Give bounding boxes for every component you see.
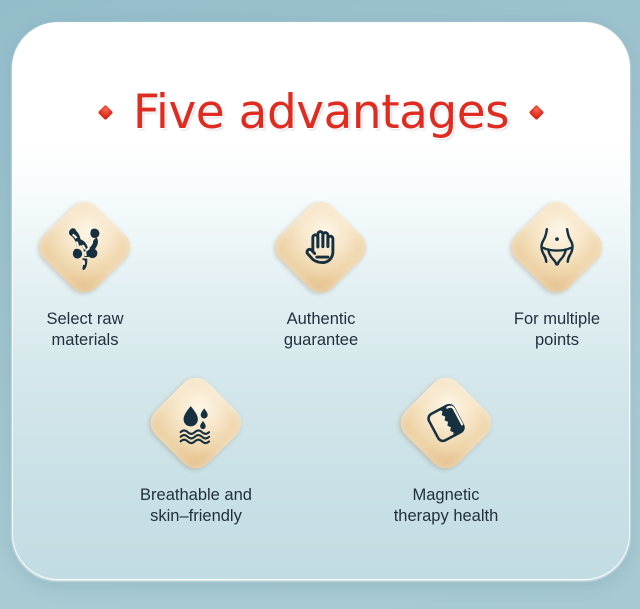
diamond-bullet-right-icon [529,105,545,121]
feature-grid: Select raw materials [13,195,629,527]
promo-graphic: Five advantages [0,0,640,609]
feature-magnetic-therapy-health: Magnetic therapy health [371,371,521,527]
feature-label: Authentic guarantee [284,309,358,351]
feature-tile [394,371,498,475]
water-drop-waves-icon [168,395,224,451]
feature-row-top: Select raw materials [13,195,629,351]
feature-label: Magnetic therapy health [394,485,499,527]
feature-label: Select raw materials [46,309,123,351]
feature-tile [269,195,373,299]
feature-label: For multiple points [514,309,600,351]
feature-row-bottom: Breathable and skin–friendly [13,371,629,527]
open-hand-icon [293,219,349,275]
feature-breathable-skin-friendly: Breathable and skin–friendly [121,371,271,527]
title-row: Five advantages [13,89,629,136]
ginger-root-icon [57,219,113,275]
feature-for-multiple-points: For multiple points [485,195,629,351]
diamond-bullet-left-icon [98,105,114,121]
feature-card: Five advantages [12,22,630,580]
feature-tile [505,195,609,299]
abdomen-waist-icon [529,219,585,275]
feature-label: Breathable and skin–friendly [140,485,252,527]
magnetic-patch-icon [418,395,474,451]
feature-select-raw-materials: Select raw materials [13,195,157,351]
feature-tile [144,371,248,475]
page-title: Five advantages [133,89,509,136]
feature-tile [33,195,137,299]
feature-authentic-guarantee: Authentic guarantee [249,195,393,351]
